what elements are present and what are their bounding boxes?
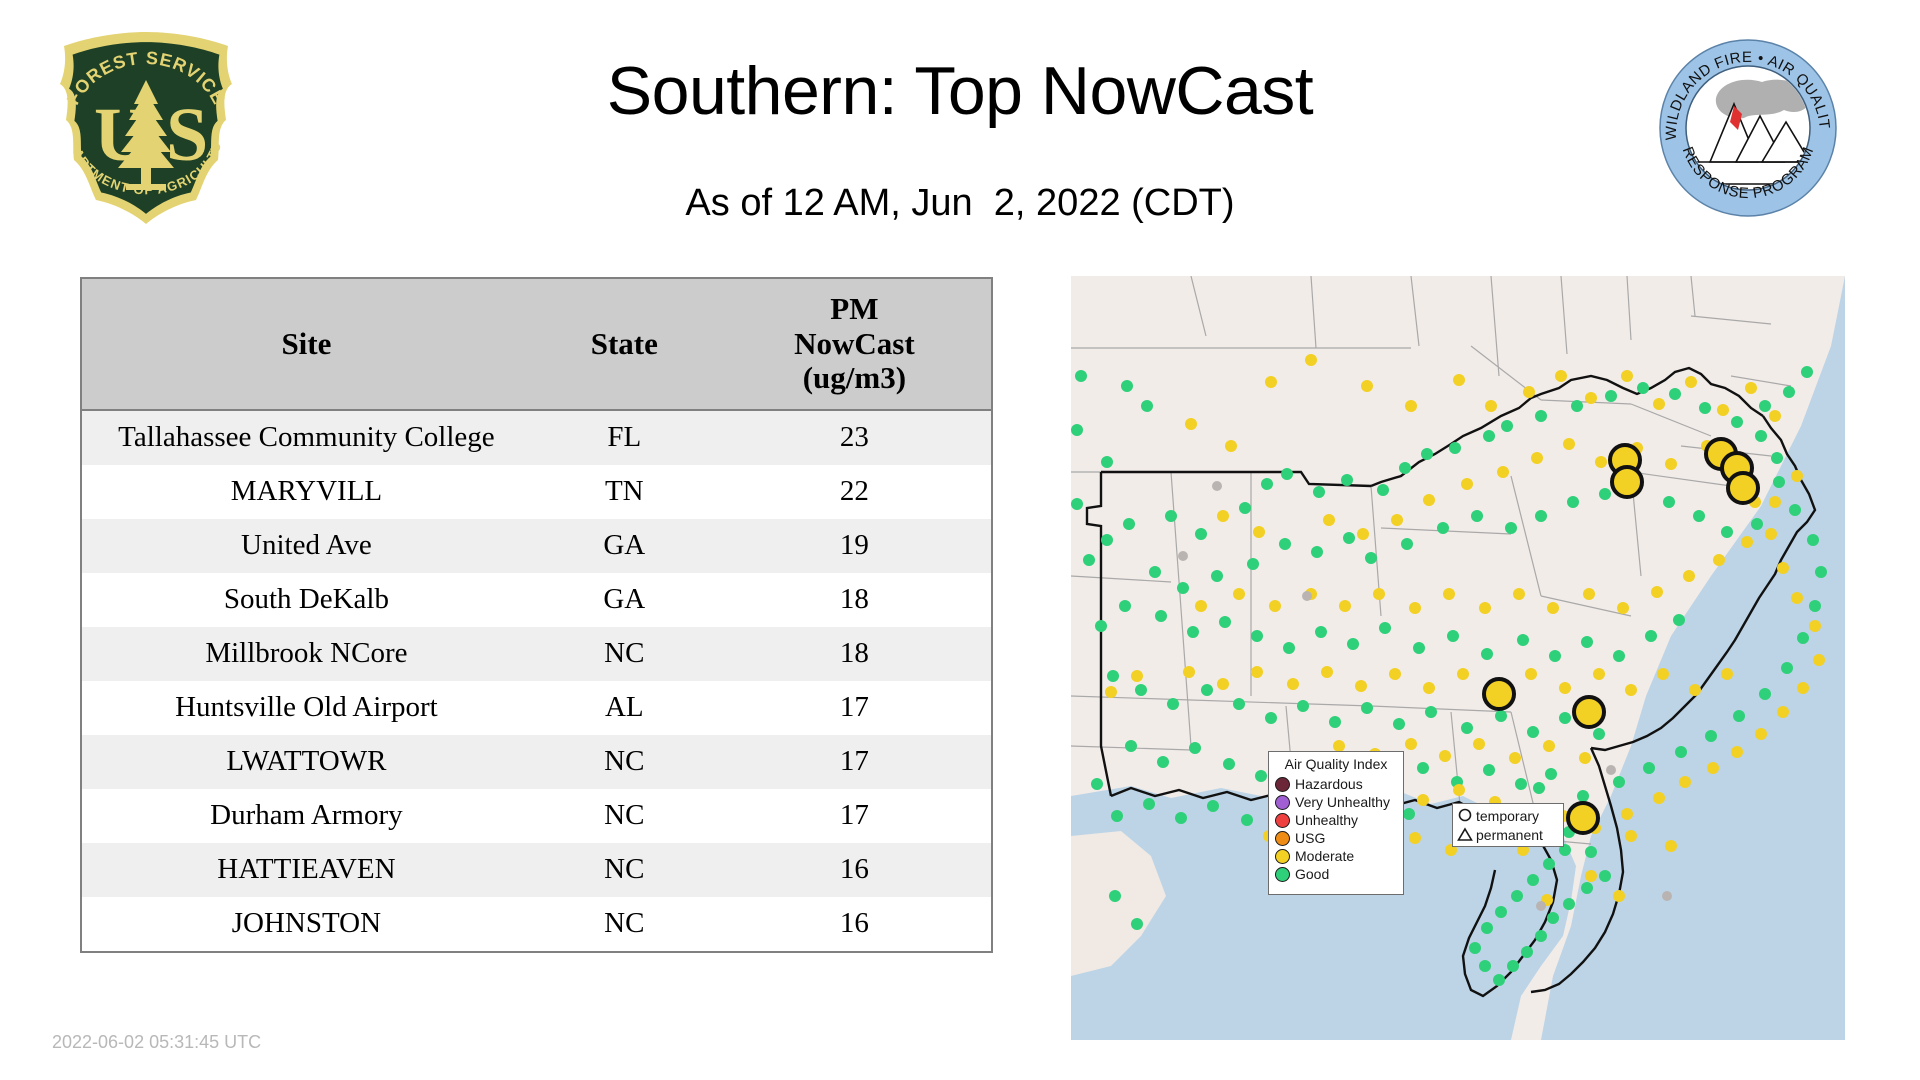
table-row: LWATTOWRNC17 bbox=[82, 735, 991, 789]
table-row: United AveGA19 bbox=[82, 519, 991, 573]
site-cell: Huntsville Old Airport bbox=[82, 681, 531, 735]
aqi-legend-row: USG bbox=[1275, 829, 1397, 847]
aqi-legend-row: Unhealthy bbox=[1275, 811, 1397, 829]
top-site-marker[interactable] bbox=[1574, 697, 1604, 727]
top-site-marker[interactable] bbox=[1728, 473, 1758, 503]
forest-service-logo: FOREST SERVICE U S DEPARTMENT OF AGRICUL… bbox=[56, 28, 236, 228]
aqi-legend-label: Good bbox=[1295, 867, 1329, 881]
pm-cell: 17 bbox=[718, 789, 991, 843]
aqi-legend-color-dot bbox=[1275, 849, 1290, 864]
aqi-legend-label: Hazardous bbox=[1295, 777, 1363, 791]
aqi-legend-label: Very Unhealthy bbox=[1295, 795, 1390, 809]
site-cell: HATTIEAVEN bbox=[82, 843, 531, 897]
pm-cell: 22 bbox=[718, 465, 991, 519]
column-header-state: State bbox=[531, 279, 718, 410]
aqi-legend-title: Air Quality Index bbox=[1275, 756, 1397, 772]
state-cell: GA bbox=[531, 519, 718, 573]
site-cell: Tallahassee Community College bbox=[82, 410, 531, 465]
table-header-row: Site State PM NowCast (ug/m3) bbox=[82, 279, 991, 410]
site-cell: MARYVILL bbox=[82, 465, 531, 519]
state-cell: FL bbox=[531, 410, 718, 465]
table-row: Tallahassee Community CollegeFL23 bbox=[82, 410, 991, 465]
table-row: Huntsville Old AirportAL17 bbox=[82, 681, 991, 735]
top-site-marker[interactable] bbox=[1612, 467, 1642, 497]
table-row: Durham ArmoryNC17 bbox=[82, 789, 991, 843]
table-row: JOHNSTONNC16 bbox=[82, 897, 991, 951]
table-row: MARYVILLTN22 bbox=[82, 465, 991, 519]
air-quality-map[interactable] bbox=[1071, 276, 1845, 1040]
site-cell: Durham Armory bbox=[82, 789, 531, 843]
table-row: Millbrook NCoreNC18 bbox=[82, 627, 991, 681]
table-row: HATTIEAVENNC16 bbox=[82, 843, 991, 897]
legend-label-temporary: temporary bbox=[1476, 809, 1539, 823]
aqi-legend-color-dot bbox=[1275, 777, 1290, 792]
wildland-fire-air-quality-badge-icon: WILDLAND FIRE • AIR QUALITY RESPONSE PRO… bbox=[1658, 38, 1838, 218]
state-cell: NC bbox=[531, 735, 718, 789]
top-nowcast-table: Site State PM NowCast (ug/m3) Tallahasse… bbox=[80, 277, 993, 953]
pm-cell: 16 bbox=[718, 897, 991, 951]
pm-cell: 18 bbox=[718, 573, 991, 627]
aqi-legend-color-dot bbox=[1275, 795, 1290, 810]
column-header-pm-line2: NowCast bbox=[722, 327, 987, 362]
table-row: South DeKalbGA18 bbox=[82, 573, 991, 627]
site-cell: United Ave bbox=[82, 519, 531, 573]
top-site-marker[interactable] bbox=[1568, 803, 1598, 833]
aqi-legend-label: Unhealthy bbox=[1295, 813, 1358, 827]
page-subtitle: As of 12 AM, Jun 2, 2022 (CDT) bbox=[270, 182, 1650, 225]
state-cell: GA bbox=[531, 573, 718, 627]
page-title: Southern: Top NowCast bbox=[270, 52, 1650, 130]
pm-cell: 16 bbox=[718, 843, 991, 897]
column-header-pm-nowcast: PM NowCast (ug/m3) bbox=[718, 279, 991, 410]
column-header-site: Site bbox=[82, 279, 531, 410]
aqi-legend-row: Very Unhealthy bbox=[1275, 793, 1397, 811]
pm-cell: 18 bbox=[718, 627, 991, 681]
site-cell: Millbrook NCore bbox=[82, 627, 531, 681]
state-cell: NC bbox=[531, 843, 718, 897]
table-body: Tallahassee Community CollegeFL23MARYVIL… bbox=[82, 410, 991, 951]
pm-cell: 17 bbox=[718, 735, 991, 789]
state-cell: NC bbox=[531, 627, 718, 681]
pm-cell: 19 bbox=[718, 519, 991, 573]
aqi-legend-color-dot bbox=[1275, 813, 1290, 828]
legend-label-permanent: permanent bbox=[1476, 828, 1543, 842]
aqi-legend-row: Good bbox=[1275, 865, 1397, 883]
pm-cell: 23 bbox=[718, 410, 991, 465]
state-cell: NC bbox=[531, 897, 718, 951]
column-header-pm-line1: PM bbox=[722, 292, 987, 327]
aqi-legend-row: Moderate bbox=[1275, 847, 1397, 865]
generated-timestamp: 2022-06-02 05:31:45 UTC bbox=[52, 1032, 261, 1053]
state-cell: NC bbox=[531, 789, 718, 843]
site-type-legend: temporary permanent bbox=[1452, 803, 1564, 847]
site-cell: South DeKalb bbox=[82, 573, 531, 627]
forest-service-shield-icon: FOREST SERVICE U S DEPARTMENT OF AGRICUL… bbox=[56, 28, 236, 228]
pm-cell: 17 bbox=[718, 681, 991, 735]
aqi-legend-row: Hazardous bbox=[1275, 775, 1397, 793]
aqi-legend-color-dot bbox=[1275, 867, 1290, 882]
map-canvas[interactable] bbox=[1071, 276, 1845, 1040]
site-cell: LWATTOWR bbox=[82, 735, 531, 789]
aqi-legend-rows: HazardousVery UnhealthyUnhealthyUSGModer… bbox=[1275, 775, 1397, 883]
top-site-marker[interactable] bbox=[1484, 679, 1514, 709]
state-cell: TN bbox=[531, 465, 718, 519]
state-cell: AL bbox=[531, 681, 718, 735]
column-header-pm-line3: (ug/m3) bbox=[722, 361, 987, 396]
aqi-legend-color-dot bbox=[1275, 831, 1290, 846]
legend-row-temporary: temporary bbox=[1457, 806, 1559, 825]
aqi-legend-label: Moderate bbox=[1295, 849, 1354, 863]
legend-row-permanent: permanent bbox=[1457, 825, 1559, 844]
triangle-icon bbox=[1457, 827, 1473, 843]
aqi-legend-label: USG bbox=[1295, 831, 1325, 845]
aqi-legend: Air Quality Index HazardousVery Unhealth… bbox=[1268, 751, 1404, 895]
circle-icon bbox=[1457, 808, 1473, 824]
wildland-fire-air-quality-badge: WILDLAND FIRE • AIR QUALITY RESPONSE PRO… bbox=[1658, 38, 1838, 218]
site-cell: JOHNSTON bbox=[82, 897, 531, 951]
